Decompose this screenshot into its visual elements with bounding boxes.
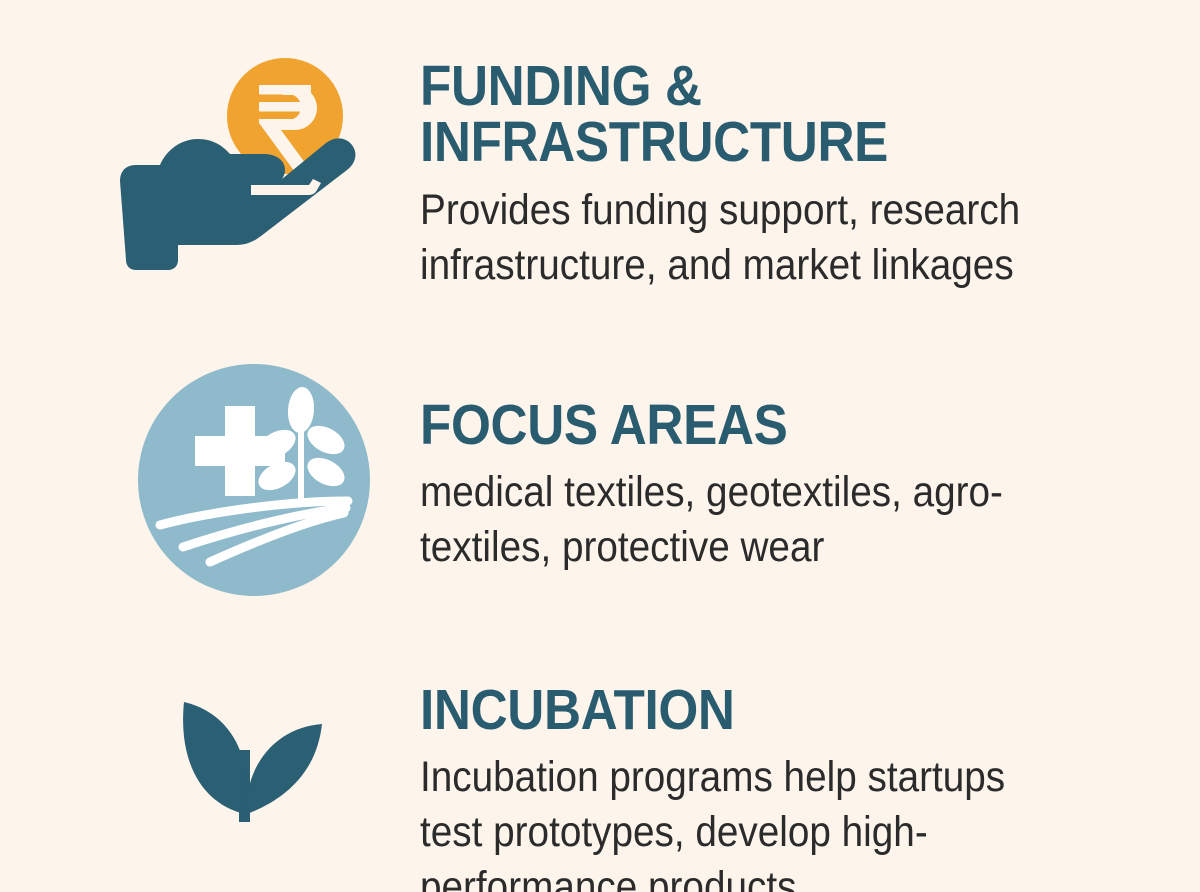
- text-column-incubation: INCUBATION Incubation programs help star…: [420, 662, 1200, 892]
- section-body-incubation: Incubation programs help startups test p…: [420, 750, 1102, 892]
- hand-holding-rupee-coin-icon: [112, 44, 412, 294]
- section-heading-focus: FOCUS AREAS: [420, 397, 1102, 453]
- icon-column-incubation: [0, 662, 420, 892]
- section-funding-infrastructure: FUNDING & INFRASTRUCTURE Provides fundin…: [0, 44, 1200, 334]
- section-incubation: INCUBATION Incubation programs help star…: [0, 662, 1200, 892]
- text-column-focus: FOCUS AREAS medical textiles, geotextile…: [420, 362, 1200, 575]
- section-heading-incubation: INCUBATION: [420, 682, 1102, 738]
- medical-agro-field-circle-icon: [138, 362, 374, 602]
- section-heading-funding: FUNDING & INFRASTRUCTURE: [420, 58, 1102, 171]
- section-focus-areas: FOCUS AREAS medical textiles, geotextile…: [0, 362, 1200, 662]
- section-body-funding: Provides funding support, research infra…: [420, 183, 1102, 293]
- text-column-funding: FUNDING & INFRASTRUCTURE Provides fundin…: [420, 44, 1200, 293]
- section-body-focus: medical textiles, geotextiles, agro- tex…: [420, 465, 1102, 575]
- sprout-leaf-left: [183, 702, 247, 814]
- icon-column-focus: [0, 362, 420, 662]
- infographic-page: FUNDING & INFRASTRUCTURE Provides fundin…: [0, 0, 1200, 892]
- seedling-sprout-in-soil-icon: [150, 662, 365, 892]
- sprout-leaf-right: [247, 724, 322, 814]
- icon-column-funding: [0, 44, 420, 334]
- open-hand-icon: [120, 138, 355, 270]
